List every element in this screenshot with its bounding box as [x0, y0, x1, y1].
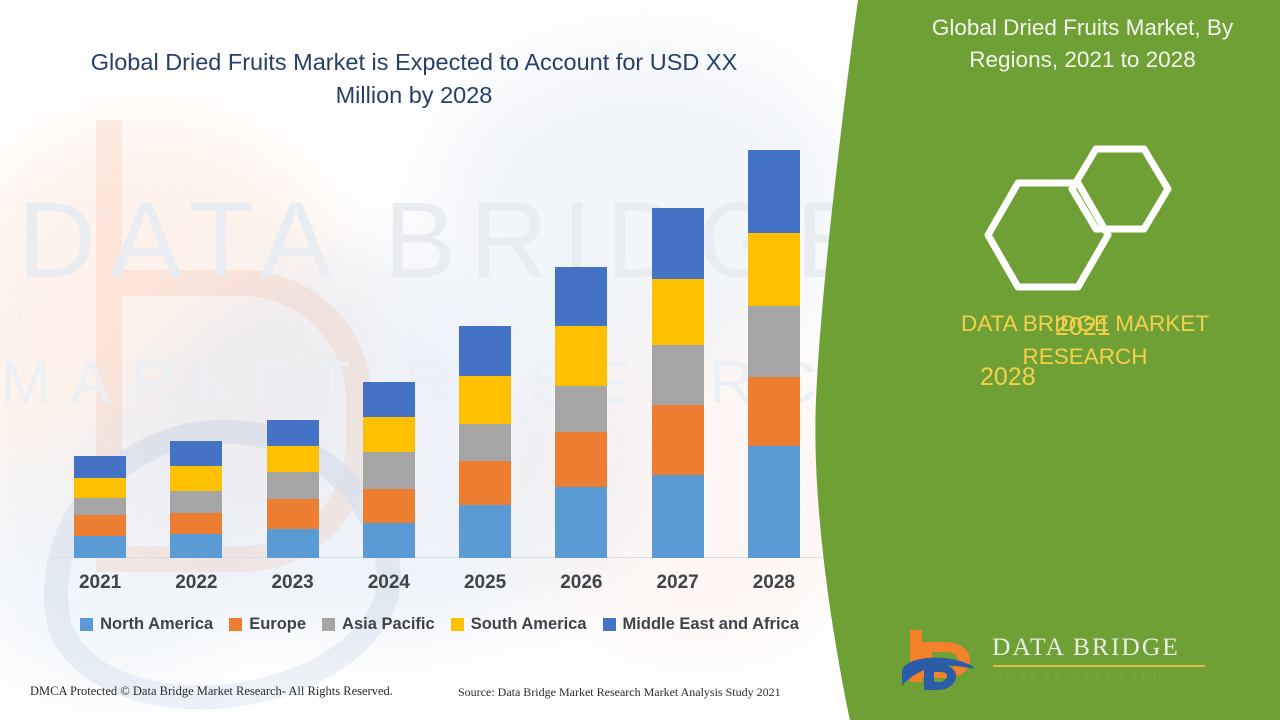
bar-segment: [267, 499, 319, 528]
x-axis-tick-label: 2026: [533, 572, 629, 594]
logo-name: DATA BRIDGE: [992, 634, 1222, 661]
bar-column: [630, 150, 726, 558]
bar-segment: [267, 529, 319, 558]
legend-item[interactable]: North America: [80, 615, 213, 634]
bar-segment: [267, 446, 319, 472]
legend-swatch-icon: [603, 618, 616, 631]
bar-segment: [170, 441, 222, 466]
x-axis-tick-label: 2025: [437, 572, 533, 594]
x-axis-tick-label: 2023: [245, 572, 341, 594]
right-green-panel: Global Dried Fruits Market, By Regions, …: [790, 0, 1280, 720]
legend-swatch-icon: [229, 618, 242, 631]
chart-x-axis-labels: 20212022202320242025202620272028: [52, 572, 822, 594]
legend-label: Middle East and Africa: [623, 615, 799, 634]
bar-segment: [363, 417, 415, 452]
hexagon-group: 2028 2021: [950, 145, 1250, 295]
bar-segment: [363, 452, 415, 489]
stacked-bar: [363, 382, 415, 558]
bar-segment: [170, 491, 222, 513]
bar-segment: [267, 420, 319, 446]
bar-segment: [170, 466, 222, 491]
bar-segment: [74, 536, 126, 558]
bar-column: [245, 150, 341, 558]
bar-segment: [363, 382, 415, 417]
bar-segment: [267, 472, 319, 499]
legend-label: Europe: [249, 615, 306, 634]
stacked-bar: [652, 208, 704, 558]
bar-segment: [652, 279, 704, 346]
bar-column: [341, 150, 437, 558]
bar-segment: [74, 478, 126, 498]
bar-segment: [74, 498, 126, 516]
bar-segment: [555, 326, 607, 386]
x-axis-tick-label: 2022: [148, 572, 244, 594]
bar-segment: [459, 505, 511, 558]
footer-source: Source: Data Bridge Market Research Mark…: [458, 685, 781, 700]
legend-label: South America: [471, 615, 587, 634]
logo-mark-icon: [900, 628, 978, 694]
bar-segment: [459, 424, 511, 461]
legend-item[interactable]: South America: [451, 615, 587, 634]
page-title: Global Dried Fruits Market is Expected t…: [64, 46, 764, 113]
hexagon-2028-icon: [988, 183, 1108, 287]
bar-segment: [652, 345, 704, 404]
chart-plot-area: [52, 150, 822, 558]
legend-swatch-icon: [322, 618, 335, 631]
bar-segment: [652, 405, 704, 475]
x-axis-tick-label: 2021: [52, 572, 148, 594]
bar-segment: [74, 456, 126, 478]
infographic-canvas: DATA BRIDGE MARKET RESEARCH Global Dried…: [0, 0, 1280, 720]
bar-column: [533, 150, 629, 558]
bar-segment: [555, 267, 607, 326]
stacked-bar: [267, 420, 319, 558]
x-axis-tick-label: 2027: [630, 572, 726, 594]
bar-segment: [459, 376, 511, 424]
bar-segment: [74, 515, 126, 536]
panel-brand-text: DATA BRIDGE MARKET RESEARCH: [935, 308, 1235, 373]
stacked-bar: [555, 267, 607, 558]
stacked-bar: [74, 456, 126, 558]
x-axis-tick-label: 2024: [341, 572, 437, 594]
bar-segment: [459, 461, 511, 505]
stacked-bar: [170, 441, 222, 558]
legend-item[interactable]: Middle East and Africa: [603, 615, 799, 634]
bar-segment: [652, 475, 704, 558]
legend-label: Asia Pacific: [342, 615, 435, 634]
legend-label: North America: [100, 615, 213, 634]
logo-divider: [993, 665, 1205, 667]
legend-swatch-icon: [80, 618, 93, 631]
bar-segment: [170, 513, 222, 534]
bar-segment: [555, 432, 607, 487]
bar-segment: [652, 208, 704, 278]
panel-title: Global Dried Fruits Market, By Regions, …: [910, 12, 1255, 76]
stacked-bar: [459, 326, 511, 558]
bar-column: [52, 150, 148, 558]
bar-column: [148, 150, 244, 558]
legend-item[interactable]: Europe: [229, 615, 306, 634]
legend-swatch-icon: [451, 618, 464, 631]
bar-segment: [363, 523, 415, 558]
chart-legend: North AmericaEuropeAsia PacificSouth Ame…: [52, 615, 827, 634]
bar-column: [437, 150, 533, 558]
bar-segment: [363, 489, 415, 523]
legend-item[interactable]: Asia Pacific: [322, 615, 435, 634]
bar-segment: [459, 326, 511, 375]
hexagon-2021-icon: [1072, 149, 1168, 229]
bar-segment: [170, 534, 222, 558]
bar-segment: [555, 386, 607, 432]
footer-copyright: DMCA Protected © Data Bridge Market Rese…: [30, 684, 393, 699]
logo-tagline: MARKET RESEARCH: [992, 670, 1222, 682]
data-bridge-logo: DATA BRIDGE MARKET RESEARCH: [900, 628, 1230, 700]
bar-segment: [555, 487, 607, 558]
